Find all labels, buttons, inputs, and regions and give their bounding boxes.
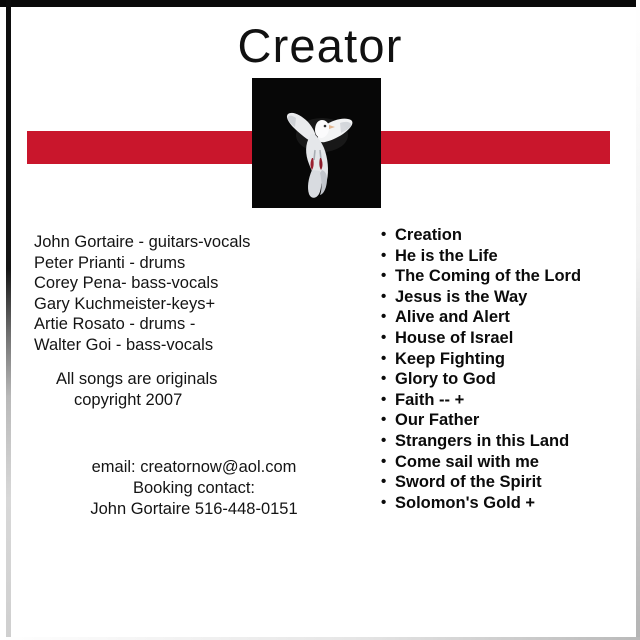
- track-title: Come sail with me: [395, 453, 539, 471]
- member-line: Walter Goi - bass-vocals: [34, 335, 334, 356]
- bullet-icon: •: [381, 452, 386, 473]
- contact-booking-person: John Gortaire 516-448-0151: [34, 499, 354, 520]
- bullet-icon: •: [381, 246, 386, 267]
- bullet-icon: •: [381, 328, 386, 349]
- track-item: •Our Father: [381, 410, 631, 431]
- track-title: Keep Fighting: [395, 350, 505, 368]
- dove-photo: [252, 78, 381, 208]
- member-line: Gary Kuchmeister-keys+: [34, 294, 334, 315]
- track-listing: •Creation •He is the Life •The Coming of…: [381, 225, 631, 513]
- bullet-icon: •: [381, 390, 386, 411]
- contact-block: email: creatornow@aol.com Booking contac…: [34, 457, 354, 520]
- track-title: Strangers in this Land: [395, 432, 569, 450]
- bullet-icon: •: [381, 493, 386, 514]
- track-item: •Glory to God: [381, 369, 631, 390]
- track-item: •Creation: [381, 225, 631, 246]
- album-cover-artwork: Creator: [0, 0, 640, 640]
- cover-frame-left-edge: [6, 0, 11, 640]
- track-item: •House of Israel: [381, 328, 631, 349]
- track-title: Jesus is the Way: [395, 288, 527, 306]
- bullet-icon: •: [381, 369, 386, 390]
- track-item: •Faith -- +: [381, 390, 631, 411]
- album-title: Creator: [0, 21, 640, 70]
- track-item: •Alive and Alert: [381, 307, 631, 328]
- bullet-icon: •: [381, 225, 386, 246]
- track-title: House of Israel: [395, 329, 513, 347]
- member-line: John Gortaire - guitars-vocals: [34, 232, 334, 253]
- track-title: He is the Life: [395, 247, 498, 265]
- band-members-list: John Gortaire - guitars-vocals Peter Pri…: [34, 232, 334, 355]
- member-line: Corey Pena- bass-vocals: [34, 273, 334, 294]
- track-item: •The Coming of the Lord: [381, 266, 631, 287]
- track-title: Creation: [395, 226, 462, 244]
- track-title: Alive and Alert: [395, 308, 510, 326]
- track-item: •Sword of the Spirit: [381, 472, 631, 493]
- track-item: •Come sail with me: [381, 452, 631, 473]
- bullet-icon: •: [381, 287, 386, 308]
- copyright-block: All songs are originals copyright 2007: [34, 369, 334, 410]
- track-title: Faith -- +: [395, 391, 464, 409]
- member-line: Artie Rosato - drums -: [34, 314, 334, 335]
- track-title: The Coming of the Lord: [395, 267, 581, 285]
- track-title: Sword of the Spirit: [395, 473, 542, 491]
- cover-frame-top-edge: [0, 0, 640, 7]
- contact-email: email: creatornow@aol.com: [34, 457, 354, 478]
- bullet-icon: •: [381, 307, 386, 328]
- track-title: Solomon's Gold +: [395, 494, 535, 512]
- member-line: Peter Prianti - drums: [34, 253, 334, 274]
- bullet-icon: •: [381, 349, 386, 370]
- bullet-icon: •: [381, 410, 386, 431]
- bullet-icon: •: [381, 472, 386, 493]
- track-item: •Keep Fighting: [381, 349, 631, 370]
- track-item: •He is the Life: [381, 246, 631, 267]
- track-title: Our Father: [395, 411, 479, 429]
- track-item: •Strangers in this Land: [381, 431, 631, 452]
- copyright-line-year: copyright 2007: [34, 390, 334, 411]
- track-item: •Solomon's Gold +: [381, 493, 631, 514]
- contact-booking-label: Booking contact:: [34, 478, 354, 499]
- track-title: Glory to God: [395, 370, 496, 388]
- bullet-icon: •: [381, 266, 386, 287]
- cover-frame-right-edge: [636, 0, 640, 640]
- copyright-line-originals: All songs are originals: [34, 369, 334, 390]
- dove-icon: [252, 78, 381, 208]
- bullet-icon: •: [381, 431, 386, 452]
- track-item: •Jesus is the Way: [381, 287, 631, 308]
